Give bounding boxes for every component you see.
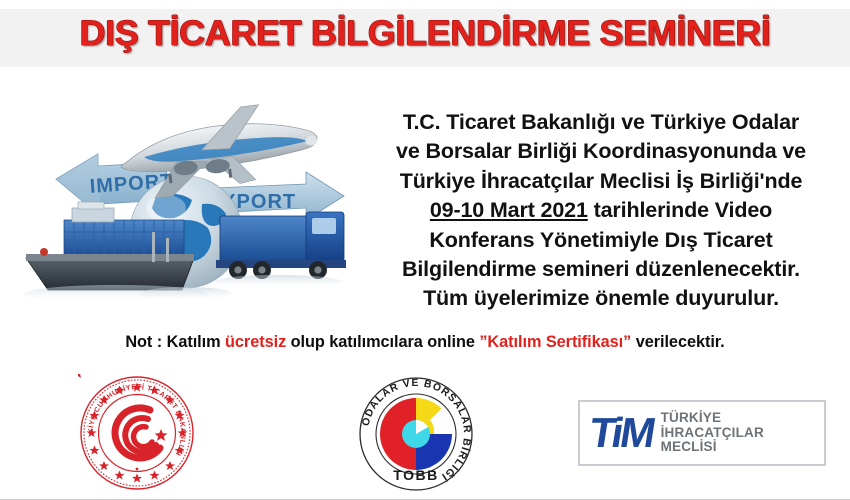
- tim-subtitle: TÜRKİYE İHRACATÇILAR MECLİSİ: [661, 411, 764, 455]
- announcement-line-6: Bilgilendirme semineri düzenlenecektir.: [355, 255, 847, 284]
- announcement-text: T.C. Ticaret Bakanlığı ve Türkiye Odalar…: [355, 108, 847, 314]
- tim-wordmark: TiM: [587, 412, 656, 454]
- announcement-line-7: Tüm üyelerimize önemle duyurulur.: [355, 284, 847, 313]
- note-highlight-free: ücretsiz: [225, 333, 286, 351]
- tobb-logo: TÜRKİYE ODALAR VE BORSALAR BİRLİĞİ TOBB: [348, 372, 484, 494]
- seminar-date: 09-10 Mart 2021: [430, 198, 588, 222]
- announcement-line-4-rest: tarihlerinde Video: [588, 198, 772, 222]
- announcement-line-1: T.C. Ticaret Bakanlığı ve Türkiye Odalar: [355, 108, 847, 137]
- logo-row: TÜRKİYE CUMHURİYETİ TİCARET BAKANLIĞI: [0, 372, 850, 496]
- tim-subtitle-line-1: TÜRKİYE: [661, 411, 764, 426]
- announcement-line-5: Konferans Yönetimiyle Dış Ticaret: [355, 226, 847, 255]
- tim-logo: TiM TÜRKİYE İHRACATÇILAR MECLİSİ: [578, 400, 826, 466]
- tobb-pinwheel: [380, 398, 452, 470]
- note-highlight-certificate: ”Katılım Sertifikası”: [479, 333, 631, 351]
- announcement-line-4: 09-10 Mart 2021 tarihlerinde Video: [355, 196, 847, 225]
- seal-crescent-motif: [111, 407, 163, 459]
- tim-subtitle-line-3: MECLİSİ: [661, 440, 764, 455]
- page-title: DIŞ TİCARET BİLGİLENDİRME SEMİNERİ: [0, 14, 850, 54]
- ministry-of-trade-logo: TÜRKİYE CUMHURİYETİ TİCARET BAKANLIĞI: [78, 374, 196, 492]
- poster-root: DIŞ TİCARET BİLGİLENDİRME SEMİNERİ: [0, 0, 850, 500]
- announcement-line-3: Türkiye İhracatçılar Meclisi İş Birliği'…: [355, 167, 847, 196]
- tobb-acronym: TOBB: [393, 467, 438, 483]
- note-line: Not : Katılım ücretsiz olup katılımcılar…: [0, 333, 850, 352]
- note-part-3: verilecektir.: [631, 333, 724, 351]
- tim-logo-box: TiM TÜRKİYE İHRACATÇILAR MECLİSİ: [578, 400, 826, 466]
- note-part-1: Not : Katılım: [125, 333, 225, 351]
- tim-subtitle-line-2: İHRACATÇILAR: [661, 426, 764, 441]
- trade-illustration: IMPORT EXPORT: [6, 104, 346, 316]
- announcement-line-2: ve Borsalar Birliği Koordinasyonunda ve: [355, 137, 847, 166]
- note-part-2: olup katılımcılara online: [286, 333, 479, 351]
